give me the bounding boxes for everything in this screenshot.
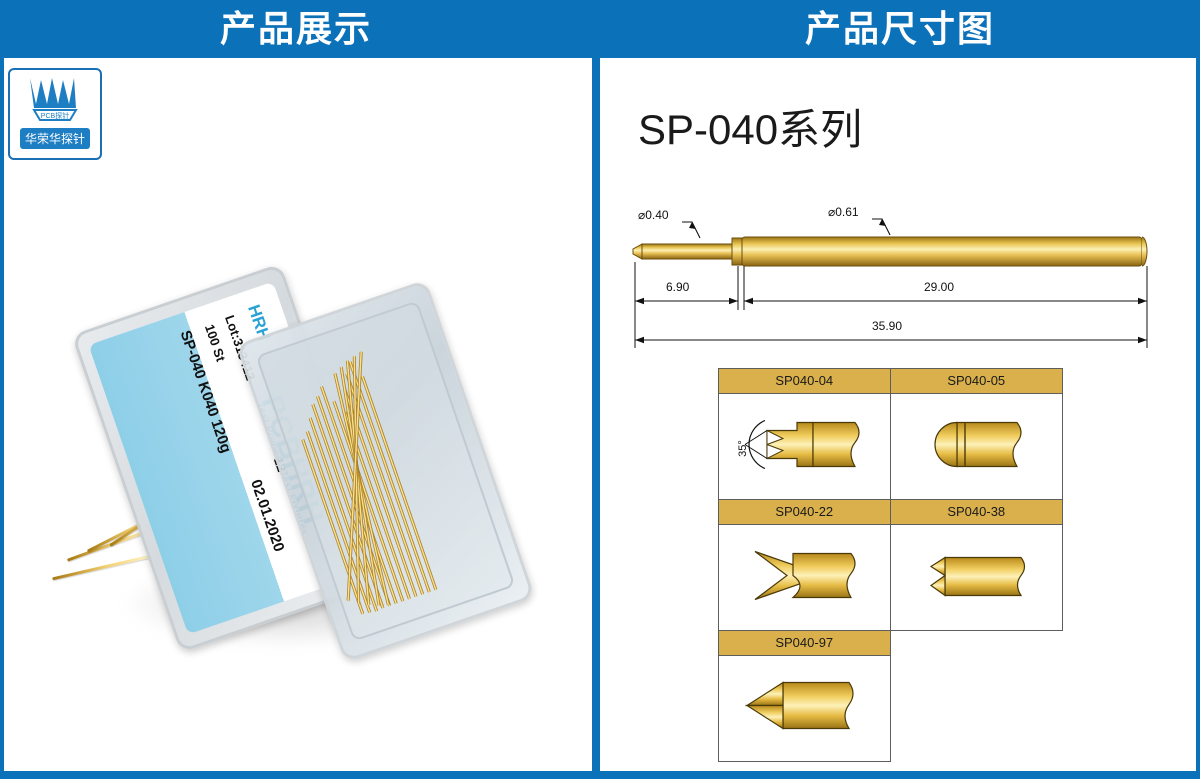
right-panel-title: 产品尺寸图 [805, 11, 995, 47]
right-edge-accent [1196, 0, 1200, 779]
variant-tip-illustration [719, 525, 890, 630]
table-row: SP040-04 [718, 368, 1063, 500]
variant-code: SP040-22 [719, 500, 890, 525]
variant-cell-sp040-04[interactable]: SP040-04 [718, 368, 891, 500]
panel-divider [592, 0, 600, 779]
variant-code: SP040-38 [891, 500, 1063, 525]
crown-icon: PCB探针 [24, 74, 86, 126]
variant-cell-sp040-22[interactable]: SP040-22 [718, 500, 891, 631]
table-row: SP040-22 SP040-38 [718, 500, 1063, 631]
round-flat-tip-icon [917, 404, 1052, 484]
series-title: SP-040系列 [638, 96, 862, 157]
label-model: SP-040 K040 120g [177, 328, 235, 455]
label-date: 02.01.2020 [247, 477, 288, 554]
variant-tip-illustration [891, 525, 1063, 630]
left-panel-title: 产品展示 [220, 11, 372, 47]
label-quantity: 100 St [202, 322, 229, 363]
callout-barrel-diameter: ⌀0.61 [828, 205, 859, 219]
concave-v-tip-icon [741, 535, 881, 615]
svg-text:PCB探针: PCB探针 [41, 111, 69, 120]
left-panel-header: 产品展示 [0, 0, 592, 58]
variant-code: SP040-04 [719, 369, 890, 394]
company-logo: PCB探针 华荣华探针 [8, 68, 102, 160]
crown-3-point-tip-icon: 35° [733, 404, 883, 484]
variant-code: SP040-97 [719, 631, 890, 656]
variant-tip-illustration [891, 394, 1063, 499]
dimension-barrel-length: 29.00 [924, 280, 954, 294]
dimension-drawing-panel: SP-040系列 [600, 58, 1196, 771]
product-photo: Lot:313412 100 St SP-040 K040 120g 12 02… [0, 58, 592, 771]
probe-dimension-drawing: ⌀0.40 ⌀0.61 6.90 29.00 35.90 [620, 188, 1180, 398]
dimension-total-length: 35.90 [872, 319, 902, 333]
product-showcase-panel: Lot:313412 100 St SP-040 K040 120g 12 02… [0, 58, 592, 771]
left-edge-accent [0, 58, 4, 771]
chisel-tip-icon [909, 535, 1049, 615]
variant-tip-illustration [719, 656, 890, 761]
poster-root: 产品展示 产品尺寸图 Lot:313412 100 St SP-040 K040… [0, 0, 1200, 779]
logo-label: 华荣华探针 [20, 128, 90, 149]
bottom-accent-bar [0, 771, 1200, 779]
variant-cell-sp040-38[interactable]: SP040-38 [891, 500, 1064, 631]
probe-drawing-svg [620, 188, 1180, 398]
callout-tip-diameter: ⌀0.40 [638, 208, 669, 222]
variant-cell-empty [891, 631, 1064, 762]
dimension-plunger-length: 6.90 [666, 280, 689, 294]
table-row: SP040-97 [718, 631, 1063, 762]
sharp-spear-tip-icon [737, 666, 877, 746]
variant-tip-illustration: 35° [719, 394, 890, 499]
variant-cell-sp040-97[interactable]: SP040-97 [718, 631, 891, 762]
variant-code: SP040-05 [891, 369, 1063, 394]
angle-label: 35° [737, 440, 749, 457]
tip-variants-table: SP040-04 [718, 368, 1063, 762]
variant-cell-sp040-05[interactable]: SP040-05 [891, 368, 1064, 500]
right-panel-header: 产品尺寸图 [600, 0, 1200, 58]
